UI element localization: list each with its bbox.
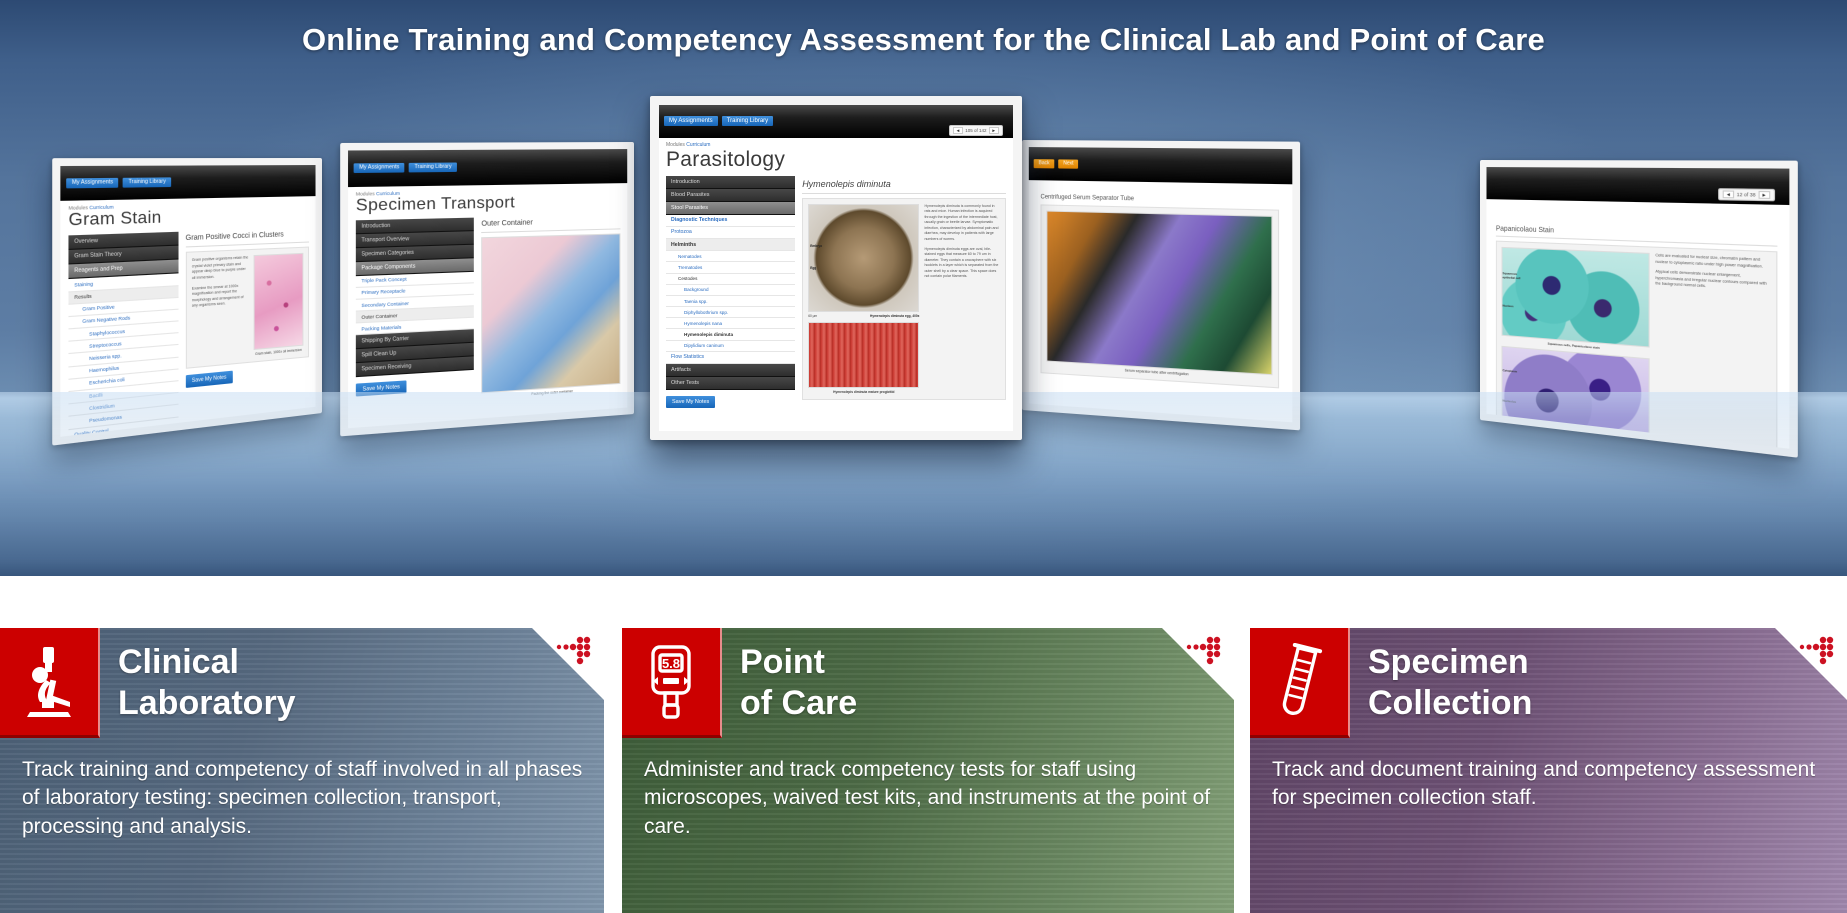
paragraph: Hymenolepis diminuta eggs are oval, bile… <box>924 247 1000 280</box>
label-egg: Egg <box>810 266 816 270</box>
breadcrumb: Modules Curriculum <box>659 138 1013 148</box>
prev-page-button[interactable]: ◄ <box>953 127 963 134</box>
nav-item[interactable]: Artifacts <box>666 364 795 377</box>
photo-outer-container <box>481 233 620 393</box>
tab-training-library[interactable]: Training Library <box>722 116 773 126</box>
nav-item[interactable]: Other Tests <box>666 377 795 390</box>
content-heading: Gram Positive Cocci in Clusters <box>186 228 309 248</box>
save-notes-button[interactable]: Save My Notes <box>666 396 715 408</box>
micrograph-high-grade-lesion <box>1502 346 1650 445</box>
screenshot-cytology[interactable]: ◄ 12 of 38 ► Papanicolaou Stain Squamous… <box>1480 160 1798 458</box>
save-notes-button[interactable]: Save My Notes <box>356 381 407 397</box>
screen-topbar: My Assignments Training Library <box>60 165 315 201</box>
card-clinical-laboratory[interactable]: Clinical Laboratory Track training and c… <box>0 628 604 913</box>
screen-topbar: My Assignments Training Library <box>348 149 627 187</box>
next-button[interactable]: Next <box>1058 160 1078 169</box>
page-title: Online Training and Competency Assessmen… <box>0 22 1847 58</box>
back-button[interactable]: Back <box>1034 159 1055 168</box>
nav-item[interactable]: Cestodes <box>666 274 795 285</box>
pagination-control[interactable]: ◄ 12 of 38 ► <box>1718 188 1775 201</box>
card-description: Track training and competency of staff i… <box>22 756 586 841</box>
nav-item[interactable]: Blood Parasites <box>666 189 795 202</box>
dot-accent-icon <box>550 636 596 672</box>
module-nav[interactable]: Overview Gram Stain Theory Reagents and … <box>68 232 178 437</box>
nav-item[interactable]: Flow Statistics <box>666 352 795 364</box>
test-tube-icon <box>1250 628 1350 738</box>
label-squamous-cell: Squamous epithelial cell <box>1502 271 1520 280</box>
paragraph: Examine the smear at 1000x magnification… <box>192 283 249 310</box>
screenshot-gram-stain[interactable]: My Assignments Training Library Modules … <box>52 158 322 446</box>
feature-cards: Clinical Laboratory Track training and c… <box>0 628 1847 913</box>
tab-training-library[interactable]: Training Library <box>409 163 457 173</box>
paragraph: Atypical cells demonstrate nuclear enlar… <box>1655 269 1770 293</box>
screenshot-parasitology[interactable]: My Assignments Training Library ◄ 105 of… <box>650 96 1022 440</box>
micrograph-squamous-cells <box>1502 247 1650 348</box>
module-nav[interactable]: Introduction Transport Overview Specimen… <box>356 217 474 428</box>
nav-item[interactable]: Helminths <box>666 239 795 251</box>
nav-item[interactable]: Introduction <box>666 176 795 189</box>
body-text: Gram positive organisms retain the cryst… <box>192 256 249 363</box>
hero-banner: My Assignments Training Library Modules … <box>0 0 1847 576</box>
pagination-control[interactable]: ◄ 105 of 142 ► <box>949 125 1003 136</box>
content-column: Gram Positive Cocci in Clusters Gram pos… <box>186 228 309 437</box>
page-indicator: 105 of 142 <box>965 128 986 133</box>
content-column: Outer Container Packing the outer contai… <box>481 214 620 428</box>
nav-item[interactable]: Diphyllobothrium spp. <box>666 307 795 318</box>
nav-item[interactable]: Trematodes <box>666 262 795 273</box>
nav-item[interactable]: Background <box>666 285 795 296</box>
content-column: Hymenolepis diminuta Embryo Egg 60 μm Hy… <box>802 176 1006 431</box>
content-panel: Embryo Egg 60 μm Hymenolepis diminuta eg… <box>802 198 1006 400</box>
nav-item[interactable]: Taenia spp. <box>666 296 795 307</box>
next-page-button[interactable]: ► <box>989 127 999 134</box>
nav-item[interactable]: Hymenolepis nana <box>666 318 795 329</box>
micrograph-proglottid <box>808 322 919 388</box>
image-caption: Hymenolepis diminuta mature proglottid <box>808 388 919 394</box>
breadcrumb-prefix: Modules <box>666 142 685 148</box>
module-nav[interactable]: Introduction Blood Parasites Stool Paras… <box>666 176 795 431</box>
card-description: Administer and track competency tests fo… <box>644 756 1216 841</box>
page-indicator: 12 of 38 <box>1737 192 1756 198</box>
card-description: Track and document training and competen… <box>1272 756 1829 813</box>
nav-item[interactable]: Diagnostic Techniques <box>666 215 795 227</box>
content-heading: Outer Container <box>481 214 620 233</box>
screen-topbar: Back Next <box>1029 147 1293 185</box>
nav-item[interactable]: Nematodes <box>666 251 795 262</box>
card-title: Clinical Laboratory <box>118 642 296 725</box>
label-embryo: Embryo <box>810 244 822 248</box>
paragraph: Hymenolepis diminuta is commonly found i… <box>924 204 1000 243</box>
photo-centrifuged-tube <box>1046 211 1272 376</box>
glucometer-reading: 5.8 <box>662 656 680 671</box>
card-title: Specimen Collection <box>1368 642 1532 725</box>
micrograph-group: Embryo Egg 60 μm Hymenolepis diminuta eg… <box>808 204 919 394</box>
card-point-of-care[interactable]: 5.8 Point of Care Administer and track c… <box>622 628 1234 913</box>
dot-accent-icon <box>1180 636 1226 672</box>
nav-item[interactable]: Dipylidium caninum <box>666 341 795 352</box>
tab-my-assignments[interactable]: My Assignments <box>664 116 718 126</box>
scale-label: 60 μm <box>808 314 817 318</box>
label-nucleus: Nucleus <box>1502 303 1513 308</box>
paragraph: Gram positive organisms retain the cryst… <box>192 256 249 282</box>
body-text: Cells are evaluated for nuclear size, ch… <box>1655 253 1770 449</box>
image-caption: Hymenolepis diminuta egg, 400x <box>870 314 919 318</box>
prev-page-button[interactable]: ◄ <box>1722 190 1734 198</box>
next-page-button[interactable]: ► <box>1758 191 1770 199</box>
card-title: Point of Care <box>740 642 857 725</box>
breadcrumb-prefix: Modules <box>356 190 375 196</box>
glucometer-icon: 5.8 <box>622 628 722 738</box>
content-panel: Gram positive organisms retain the cryst… <box>186 247 309 369</box>
microscope-icon <box>0 628 100 738</box>
screenshot-specimen-transport[interactable]: My Assignments Training Library Modules … <box>340 142 634 436</box>
tab-training-library[interactable]: Training Library <box>123 178 171 188</box>
breadcrumb-link[interactable]: Curriculum <box>686 142 710 148</box>
content-heading: Hymenolepis diminuta <box>802 176 1006 194</box>
paragraph: Cells are evaluated for nuclear size, ch… <box>1655 253 1770 270</box>
micrograph-group: Squamous epithelial cell Nucleus Squamou… <box>1502 247 1650 449</box>
micrograph-hymenolepis-egg <box>808 204 919 312</box>
tab-my-assignments[interactable]: My Assignments <box>66 178 118 189</box>
body-text: Hymenolepis diminuta is commonly found i… <box>924 204 1000 394</box>
save-notes-button[interactable]: Save My Notes <box>186 371 233 388</box>
nav-item-active[interactable]: Stool Parasites <box>666 202 795 215</box>
dot-accent-icon <box>1793 636 1839 672</box>
card-specimen-collection[interactable]: Specimen Collection Track and document t… <box>1250 628 1847 913</box>
page-title: Parasitology <box>659 148 1013 176</box>
micrograph-gram-stain: Gram stain, 1000x oil immersion <box>253 253 303 356</box>
nav-item[interactable]: Hymenolepis diminuta <box>666 329 795 340</box>
tab-my-assignments[interactable]: My Assignments <box>354 163 405 173</box>
screenshot-phlebotomy[interactable]: Back Next Centrifuged Serum Separator Tu… <box>1022 140 1300 430</box>
nav-item[interactable]: Protozoa <box>666 227 795 239</box>
